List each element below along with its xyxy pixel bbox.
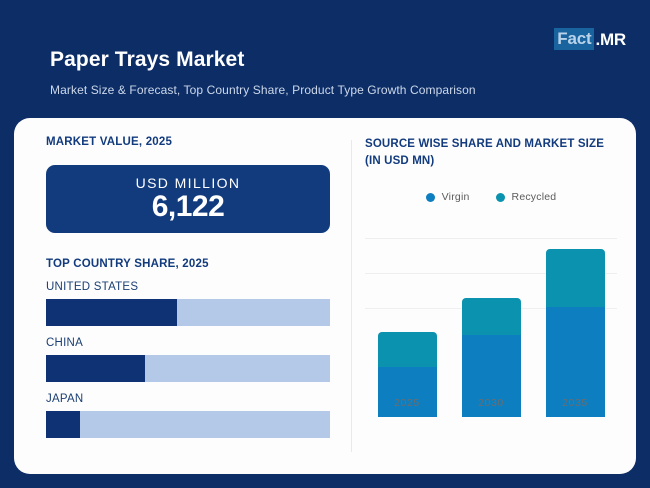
- page-title: Paper Trays Market: [50, 48, 244, 72]
- market-value-card: USD MILLION 6,122: [46, 165, 330, 233]
- content-card: MARKET VALUE, 2025 USD MILLION 6,122 TOP…: [14, 118, 636, 474]
- country-row: CHINA: [46, 337, 330, 382]
- x-axis-tick-label: 2035: [546, 397, 605, 409]
- country-share-bar-fill: [46, 411, 80, 438]
- country-label: CHINA: [46, 337, 330, 349]
- bar-segment-recycled: [378, 332, 437, 367]
- chart-legend: Virgin Recycled: [365, 191, 617, 203]
- brand-logo-suffix: .MR: [594, 31, 626, 48]
- country-share-heading: TOP COUNTRY SHARE, 2025: [46, 258, 330, 270]
- legend-label: Recycled: [512, 191, 557, 203]
- legend-dot-icon: [426, 193, 435, 202]
- country-share-bar-track: [46, 299, 330, 326]
- x-axis-tick-label: 2025: [378, 397, 437, 409]
- right-panel: SOURCE WISE SHARE AND MARKET SIZE (IN US…: [365, 136, 617, 417]
- country-share-bar-fill: [46, 299, 177, 326]
- country-row: JAPAN: [46, 393, 330, 438]
- bar-group-2035: [546, 249, 605, 417]
- brand-logo-mark: Fact: [554, 28, 594, 50]
- market-value-number: 6,122: [152, 190, 225, 224]
- chart-bars: [365, 242, 617, 417]
- country-label: UNITED STATES: [46, 281, 330, 293]
- country-row: UNITED STATES: [46, 281, 330, 326]
- legend-item-recycled: Recycled: [496, 191, 557, 203]
- country-label: JAPAN: [46, 393, 330, 405]
- column-divider: [351, 140, 352, 452]
- chart-x-axis: 2025 2030 2035: [365, 397, 617, 409]
- country-share-bar-fill: [46, 355, 145, 382]
- bar-segment-recycled: [546, 249, 605, 307]
- x-axis-tick-label: 2030: [462, 397, 521, 409]
- header-banner: Paper Trays Market Market Size & Forecas…: [0, 0, 650, 118]
- market-value-heading: MARKET VALUE, 2025: [46, 136, 330, 148]
- bar-segment-recycled: [462, 298, 521, 335]
- infographic-root: Paper Trays Market Market Size & Forecas…: [0, 0, 650, 488]
- brand-logo: Fact .MR: [554, 28, 626, 50]
- page-subtitle: Market Size & Forecast, Top Country Shar…: [50, 83, 476, 97]
- bar-segment-virgin: [378, 367, 437, 417]
- chart-heading: SOURCE WISE SHARE AND MARKET SIZE (IN US…: [365, 136, 617, 169]
- left-panel: MARKET VALUE, 2025 USD MILLION 6,122 TOP…: [46, 136, 330, 438]
- country-share-bar-track: [46, 411, 330, 438]
- legend-label: Virgin: [442, 191, 470, 203]
- country-share-bar-track: [46, 355, 330, 382]
- legend-dot-icon: [496, 193, 505, 202]
- gridline: [365, 238, 617, 239]
- stacked-bar-chart: 2025 2030 2035: [365, 217, 617, 417]
- legend-item-virgin: Virgin: [426, 191, 470, 203]
- market-value-unit: USD MILLION: [136, 175, 241, 191]
